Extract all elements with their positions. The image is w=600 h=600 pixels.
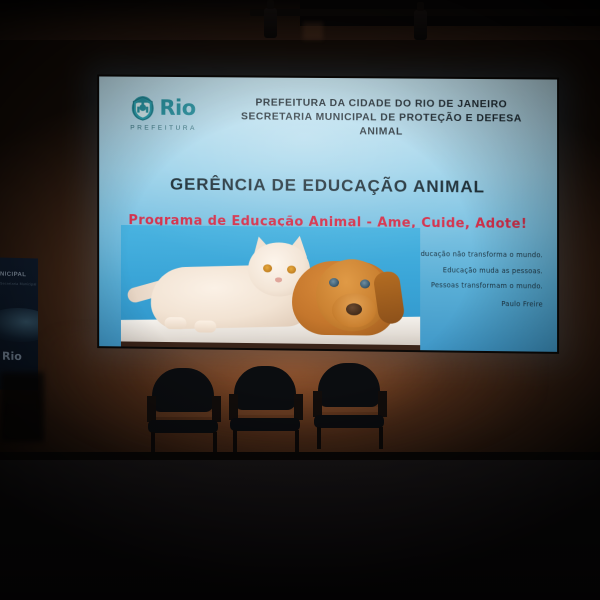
chair-arm-right	[212, 396, 221, 422]
prefeitura-subline: PREFEITURA	[117, 124, 210, 132]
floor	[0, 460, 600, 600]
chair-leg-right	[213, 432, 217, 454]
banner-base-shadow	[0, 372, 44, 442]
chair-backrest	[318, 363, 380, 407]
cat-paw-front	[165, 317, 187, 329]
dog-nose	[346, 303, 362, 315]
auditorium-scene: Rio PREFEITURA PREFEITURA DA CIDADE DO R…	[0, 0, 600, 600]
banner-title-text: NICIPAL	[0, 272, 38, 279]
chair-backrest	[152, 368, 214, 412]
chair-arm-right	[378, 391, 387, 417]
chair-rail	[150, 412, 216, 417]
chair-right	[312, 363, 388, 449]
chair-arm-left	[229, 394, 238, 420]
banner-swoosh	[0, 307, 38, 343]
banner-subtitle-text: Secretaria Municipal	[0, 282, 38, 287]
dog-eye-left	[329, 278, 339, 287]
cat-eye-left	[263, 264, 272, 272]
chair-backrest	[234, 366, 296, 410]
slide-header: PREFEITURA DA CIDADE DO RIO DE JANEIRO S…	[216, 96, 547, 141]
chair-leg-right	[379, 427, 383, 449]
slide-content: Rio PREFEITURA PREFEITURA DA CIDADE DO R…	[99, 76, 557, 351]
chair-seat	[314, 415, 384, 428]
chair-leg-left	[233, 430, 237, 452]
chair-leg-left	[317, 427, 321, 449]
rio-wordmark: Rio	[159, 98, 195, 119]
slide-title: GERÊNCIA DE EDUCAÇÃO ANIMAL	[99, 174, 557, 198]
dog-eye-right	[360, 279, 370, 288]
chair-arm-left	[147, 396, 156, 422]
wall-marking	[303, 22, 323, 40]
cat-nose	[275, 277, 282, 282]
header-line-3: ANIMAL	[216, 124, 547, 141]
rollup-banner: NICIPAL Secretaria Municipal Rio	[0, 257, 38, 390]
chair-rail	[316, 407, 382, 412]
rio-coat-of-arms-icon	[130, 95, 156, 122]
chair-left	[146, 368, 222, 454]
stage-spotlight-right-icon	[414, 10, 427, 40]
chair-seat	[148, 420, 218, 433]
chair-seat	[230, 418, 300, 431]
chair-leg-right	[295, 430, 299, 452]
banner-rio-logo: Rio	[2, 350, 22, 364]
cat-eye-right	[287, 266, 296, 274]
chair-arm-right	[294, 394, 303, 420]
chair-center	[228, 366, 304, 452]
chair-leg-left	[151, 432, 155, 454]
header-line-2: SECRETARIA MUNICIPAL DE PROTEÇÃO E DEFES…	[216, 110, 547, 127]
chair-rail	[232, 410, 298, 415]
cat-and-dog-photo	[121, 225, 420, 350]
projection-screen: Rio PREFEITURA PREFEITURA DA CIDADE DO R…	[97, 74, 559, 353]
stage-spotlight-left-icon	[264, 8, 277, 38]
cat-paw-rear	[194, 320, 216, 332]
chair-arm-left	[313, 391, 322, 417]
rio-prefeitura-logo: Rio PREFEITURA	[115, 94, 210, 132]
